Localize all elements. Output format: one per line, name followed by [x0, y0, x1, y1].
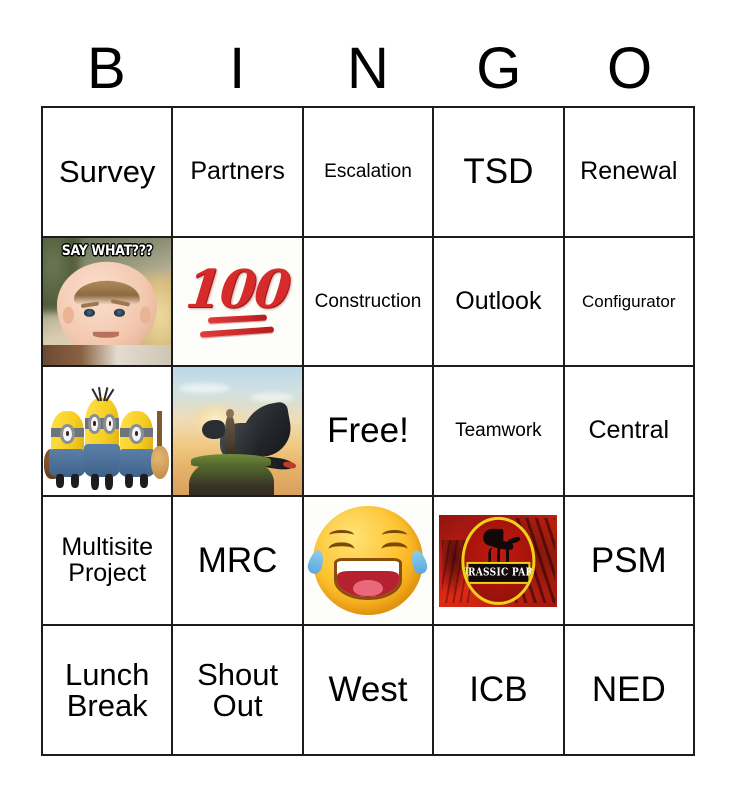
- meme-caption-text: SAY WHAT???: [49, 243, 165, 259]
- bingo-header-row: B I N G O: [41, 34, 695, 104]
- header-letter-g: G: [433, 34, 564, 104]
- bingo-cell-label: Renewal: [565, 159, 693, 185]
- bingo-cell-label: Survey: [43, 156, 171, 188]
- bingo-cell[interactable]: Renewal: [565, 108, 695, 238]
- bingo-cell-label: Teamwork: [434, 421, 562, 440]
- bingo-cell[interactable]: ICB: [434, 626, 564, 756]
- bingo-cell[interactable]: [304, 497, 434, 627]
- bingo-cell[interactable]: MRC: [173, 497, 303, 627]
- bingo-cell[interactable]: Construction: [304, 238, 434, 368]
- bingo-cell[interactable]: West: [304, 626, 434, 756]
- bingo-cell-label: PSM: [565, 543, 693, 579]
- bingo-cell-label: TSD: [434, 154, 562, 190]
- bingo-cell-label: Escalation: [304, 162, 432, 181]
- bingo-grid: Survey Partners Escalation TSD Renewal: [41, 106, 695, 756]
- bingo-cell-label: ICB: [434, 672, 562, 708]
- bingo-cell[interactable]: 100: [173, 238, 303, 368]
- hundred-points-emoji-image: 100: [173, 238, 301, 366]
- hundred-digits-text: 100: [184, 268, 291, 312]
- bingo-cell-label: Outlook: [434, 289, 562, 315]
- bingo-cell[interactable]: Shout Out: [173, 626, 303, 756]
- bingo-cell-label: NED: [565, 672, 693, 708]
- bingo-cell[interactable]: Multisite Project: [43, 497, 173, 627]
- hundred-underline-bottom: [200, 326, 275, 337]
- bingo-free-space[interactable]: Free!: [304, 367, 434, 497]
- bingo-cell[interactable]: Lunch Break: [43, 626, 173, 756]
- skeptical-baby-meme-image: SAY WHAT???: [43, 238, 171, 366]
- minions-characters-image: [43, 367, 171, 495]
- bingo-cell[interactable]: TSD: [434, 108, 564, 238]
- bingo-cell-label: Central: [565, 418, 693, 444]
- bingo-card: B I N G O Survey Partners Escalation TSD…: [0, 0, 736, 800]
- bingo-cell[interactable]: Partners: [173, 108, 303, 238]
- bingo-cell[interactable]: [43, 367, 173, 497]
- bingo-cell-label: Lunch Break: [43, 659, 171, 722]
- bingo-cell-label: Partners: [173, 159, 301, 185]
- jurassic-park-poster-image: JURASSIC PARK: [434, 497, 562, 625]
- bingo-cell-label: Multisite Project: [43, 535, 171, 586]
- bingo-cell[interactable]: Central: [565, 367, 695, 497]
- bingo-cell[interactable]: NED: [565, 626, 695, 756]
- bingo-cell[interactable]: Configurator: [565, 238, 695, 368]
- header-letter-o: O: [564, 34, 695, 104]
- bingo-cell-label: Configurator: [565, 293, 693, 310]
- bingo-cell-label: Construction: [304, 292, 432, 311]
- header-letter-b: B: [41, 34, 172, 104]
- bingo-cell[interactable]: Survey: [43, 108, 173, 238]
- face-with-tears-of-joy-emoji-image: [304, 497, 432, 625]
- bingo-cell-label: West: [304, 672, 432, 708]
- bingo-cell[interactable]: Teamwork: [434, 367, 564, 497]
- bingo-cell[interactable]: SAY WHAT???: [43, 238, 173, 368]
- bingo-cell[interactable]: [173, 367, 303, 497]
- bingo-free-space-label: Free!: [304, 413, 432, 449]
- jurassic-park-title-text: JURASSIC PARK: [462, 567, 535, 580]
- bingo-cell[interactable]: Outlook: [434, 238, 564, 368]
- bingo-cell[interactable]: PSM: [565, 497, 695, 627]
- bingo-cell-label: MRC: [173, 543, 301, 579]
- how-to-train-your-dragon-scene-image: [173, 367, 301, 495]
- header-letter-i: I: [172, 34, 303, 104]
- header-letter-n: N: [303, 34, 434, 104]
- bingo-cell[interactable]: Escalation: [304, 108, 434, 238]
- bingo-cell-label: Shout Out: [173, 659, 301, 722]
- bingo-cell[interactable]: JURASSIC PARK: [434, 497, 564, 627]
